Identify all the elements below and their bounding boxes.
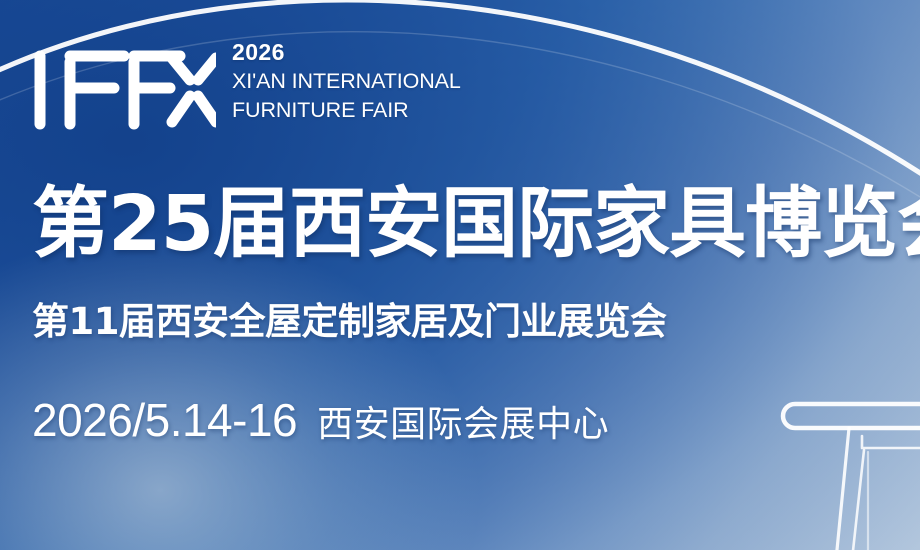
headline-block: 第25届西安国际家具博览会 第11届西安全屋定制家居及门业展览会 2026/5.… — [32, 186, 892, 447]
event-date: 2026/5.14-16 — [32, 394, 297, 446]
logo-text-block: 2026 XI'AN INTERNATIONAL FURNITURE FAIR — [232, 38, 461, 121]
dateline: 2026/5.14-16西安国际会展中心 — [32, 393, 892, 447]
sub-title: 第11届西安全屋定制家居及门业展览会 — [32, 303, 892, 340]
main-title: 第25届西安国际家具博览会 — [32, 186, 892, 263]
logo-year: 2026 — [232, 41, 461, 64]
iffx-logo-mark-icon — [30, 38, 216, 134]
exhibition-banner: 2026 XI'AN INTERNATIONAL FURNITURE FAIR … — [0, 0, 920, 550]
logo-line-1: XI'AN INTERNATIONAL — [232, 71, 461, 93]
event-venue: 西安国际会展中心 — [317, 404, 609, 445]
logo-line-2: FURNITURE FAIR — [232, 100, 461, 122]
logo-block: 2026 XI'AN INTERNATIONAL FURNITURE FAIR — [30, 38, 461, 134]
